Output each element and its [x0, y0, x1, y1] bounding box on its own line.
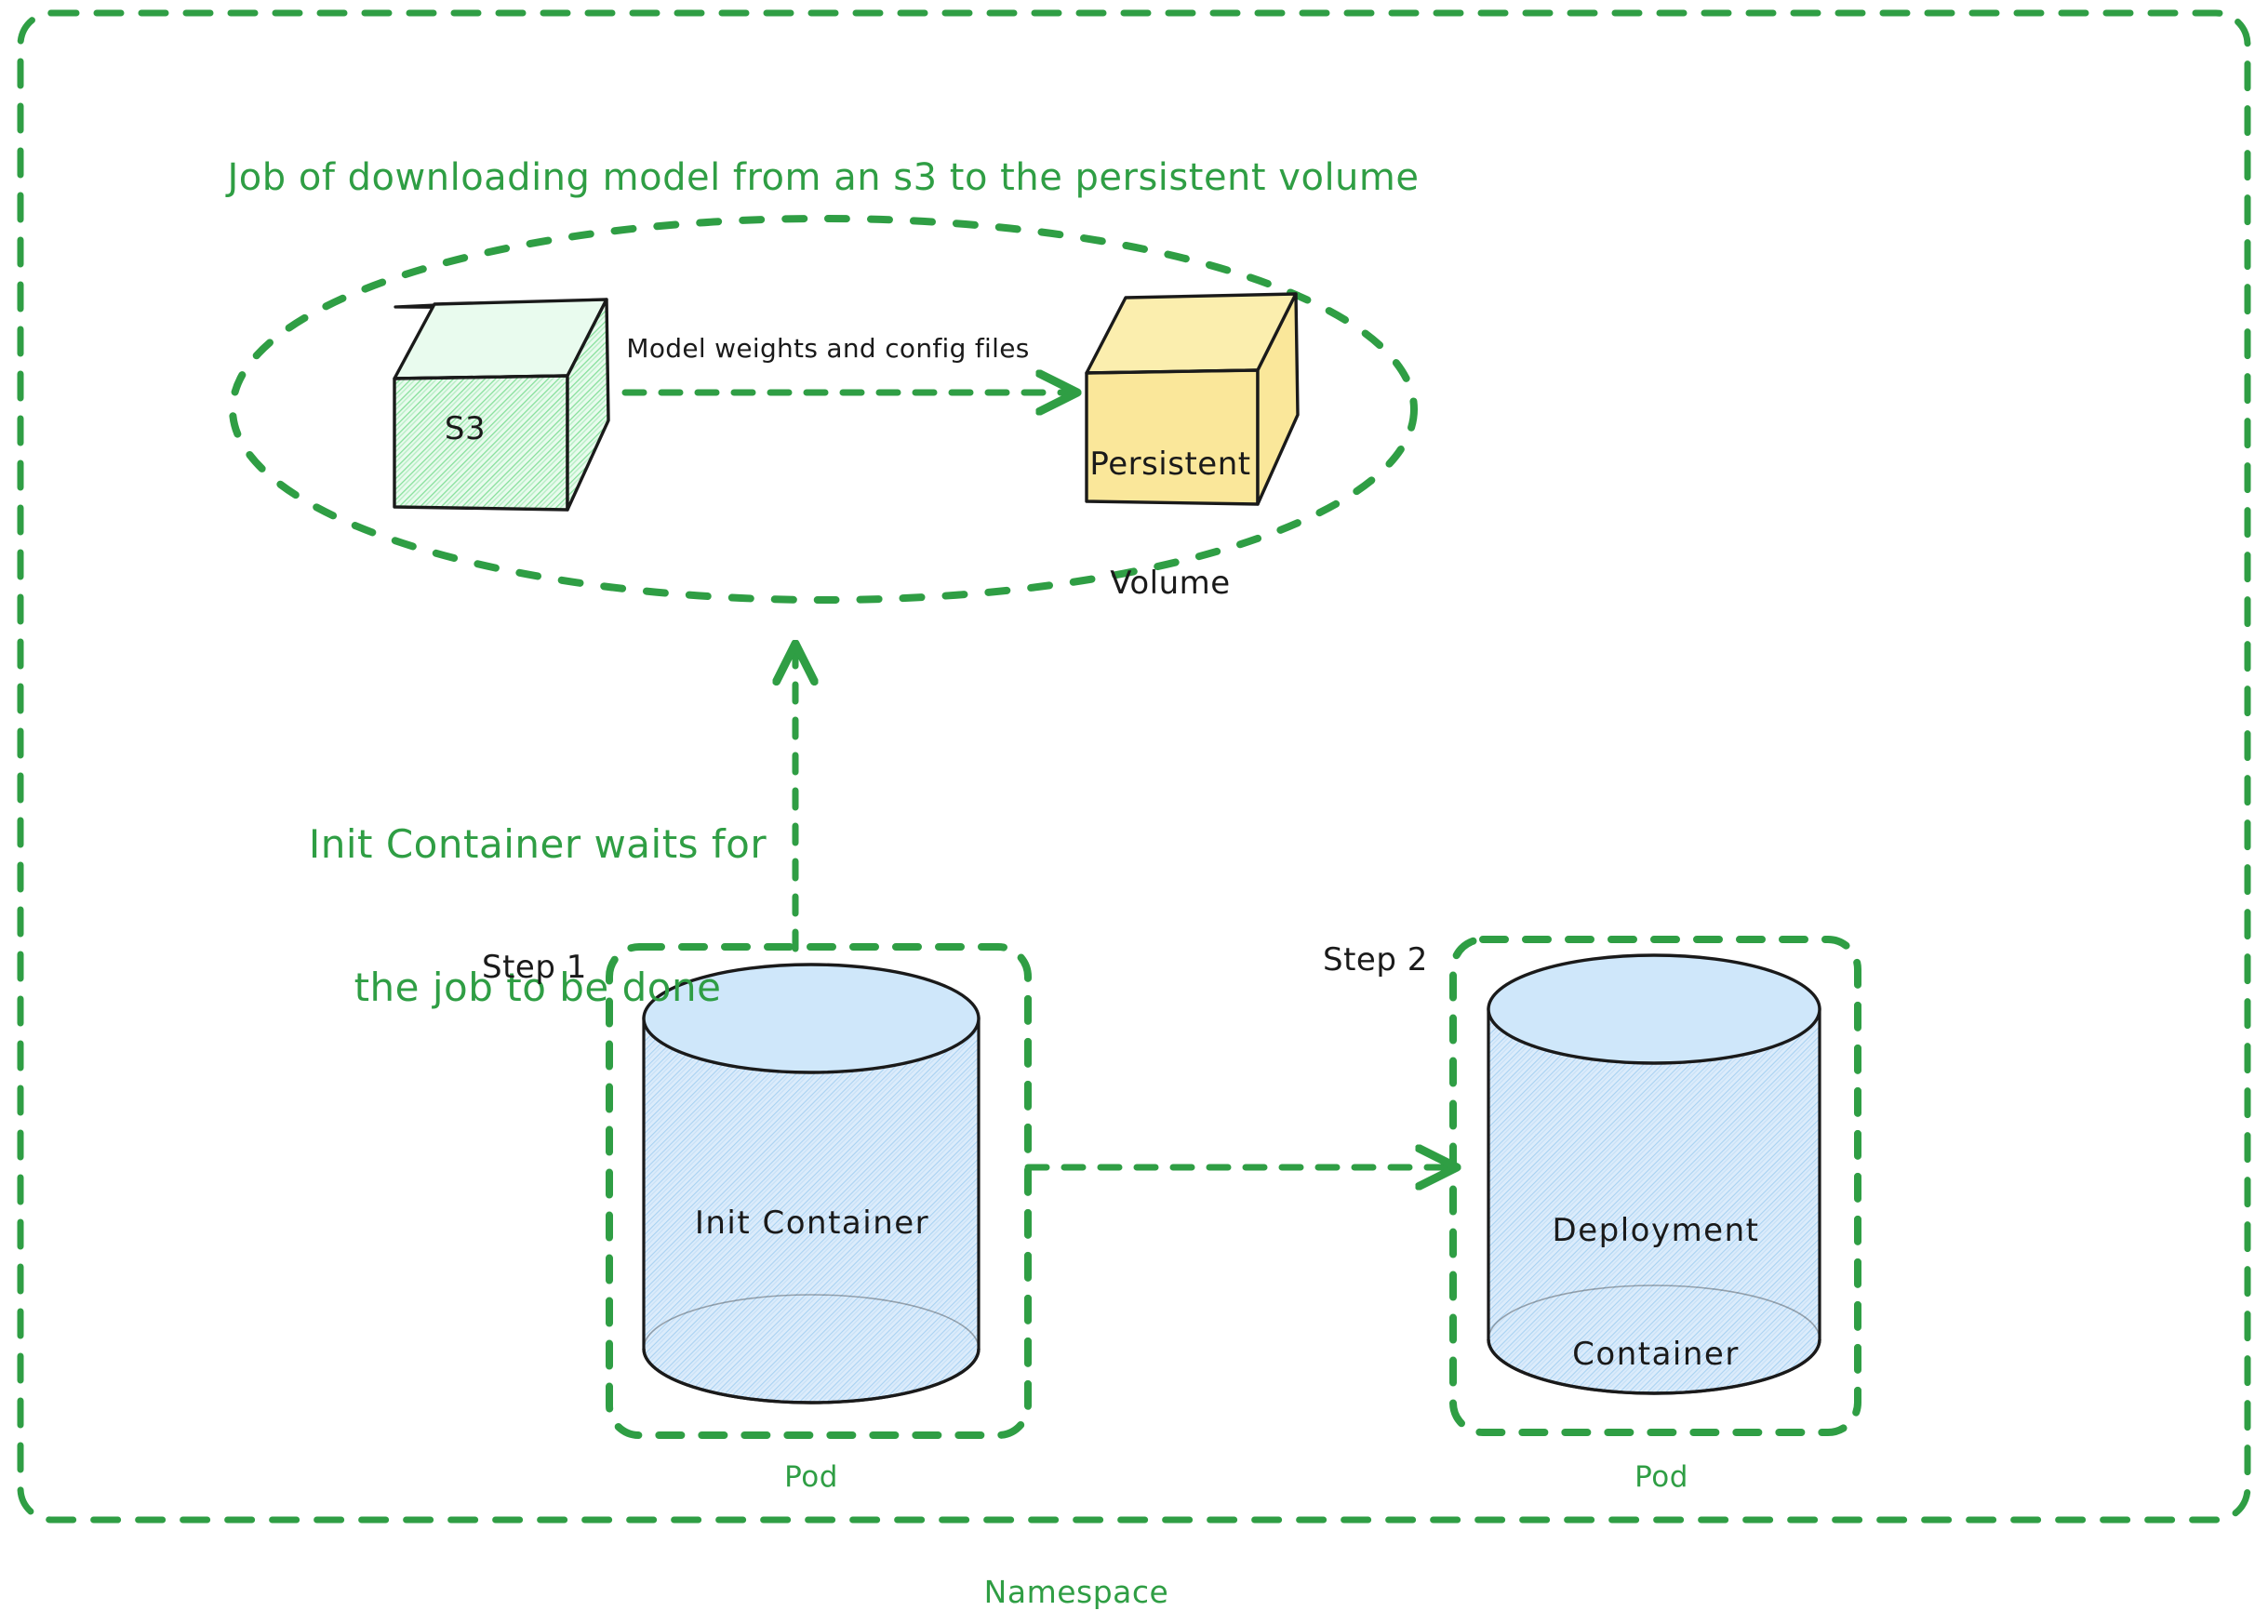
s3-cube-label: S3 [445, 409, 486, 449]
init-container-label-line-1: Init Container [695, 1203, 929, 1244]
deployment-container-label-line-1: Deployment [1553, 1210, 1760, 1251]
init-container-label: Init Container [695, 1121, 929, 1326]
s3-cube [394, 300, 608, 510]
step-1-label: Step 1 [482, 949, 587, 986]
job-group-title: Job of downloading model from an s3 to t… [228, 156, 1420, 199]
deployment-container-label: Deployment Container [1553, 1128, 1760, 1458]
pv-label-line-2: Volume [1089, 564, 1250, 604]
deployment-container-label-line-2: Container [1553, 1334, 1760, 1375]
pv-label-line-1: Persistent [1089, 445, 1250, 485]
persistent-volume-cube-label: Persistent Volume [1089, 366, 1250, 682]
init-waits-note-line-1: Init Container waits for [309, 820, 767, 868]
pod-2-label: Pod [1634, 1460, 1688, 1494]
diagram-canvas: Job of downloading model from an s3 to t… [0, 0, 2268, 1624]
pod-1-label: Pod [784, 1460, 838, 1494]
namespace-label: Namespace [984, 1574, 1169, 1610]
step-2-label: Step 2 [1323, 941, 1428, 978]
init-waits-note: Init Container waits for the job to be d… [309, 725, 767, 1107]
s3-to-pv-edge-label: Model weights and config files [626, 333, 1029, 364]
